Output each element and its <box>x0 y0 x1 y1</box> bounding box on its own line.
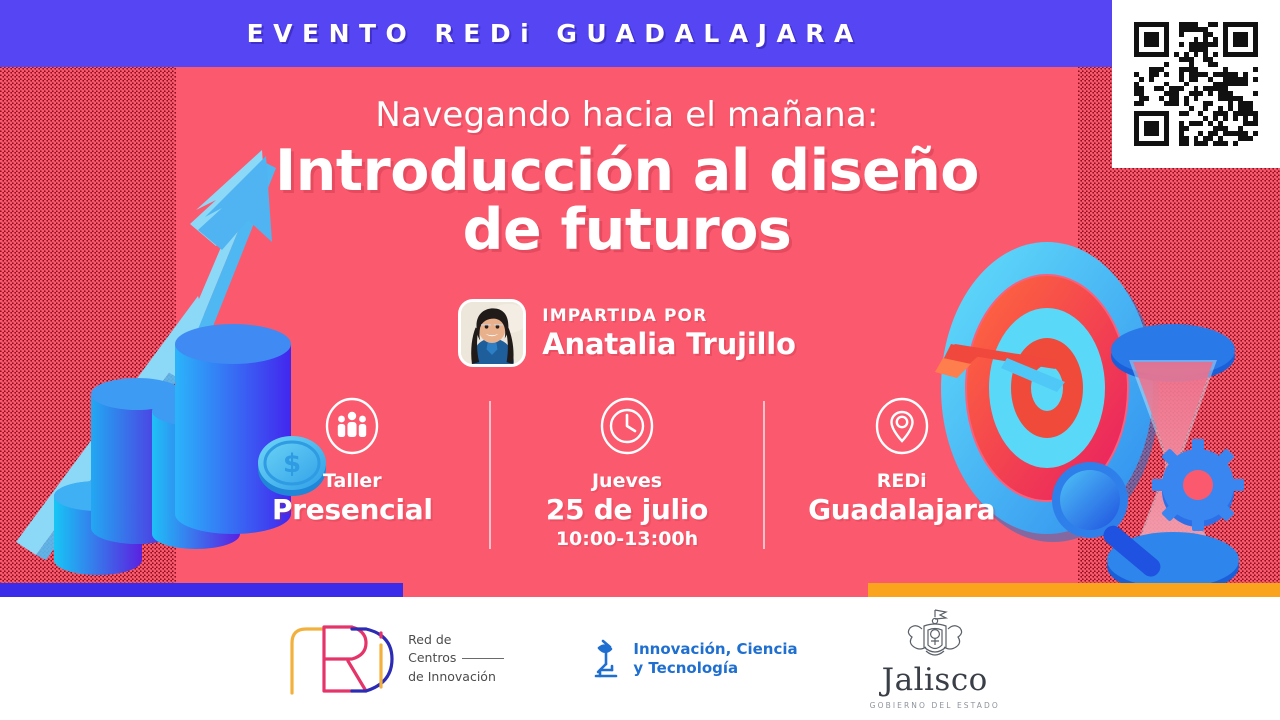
redi-tagline-line-1: Red de <box>408 631 504 649</box>
info-date-time: 10:00-13:00h <box>556 528 698 550</box>
poster-content: Navegando hacia el mañana: Introducción … <box>176 67 1078 597</box>
poster-artboard: $ <box>0 0 1280 597</box>
ict-text-line-1: Innovación, Ciencia <box>633 640 797 659</box>
speaker-text: IMPARTIDA POR Anatalia Trujillo <box>542 306 795 361</box>
info-modality-big: Presencial <box>272 494 433 525</box>
qr-code-card[interactable] <box>1112 0 1280 168</box>
accent-bar-blue <box>0 583 403 597</box>
redi-tagline-line-2: Centros <box>408 650 456 665</box>
ict-text-line-2: y Tecnología <box>633 659 797 678</box>
people-group-icon <box>323 397 381 455</box>
info-item-location: REDi Guadalajara <box>765 397 1038 525</box>
jalisco-word: Jalisco <box>870 665 1000 696</box>
event-poster: $ <box>0 0 1280 720</box>
info-item-modality: Taller Presencial <box>216 397 489 525</box>
header-bar-inner: EVENTO REDi GUADALAJARA <box>0 0 1100 67</box>
avatar <box>458 299 526 367</box>
jalisco-gobierno-logo: Jalisco GOBIERNO DEL ESTADO <box>870 607 1000 710</box>
jalisco-subtitle: GOBIERNO DEL ESTADO <box>870 701 1000 710</box>
clock-icon <box>598 397 656 455</box>
redi-tagline-rule <box>462 658 504 659</box>
header-bar: EVENTO REDi GUADALAJARA <box>0 0 1280 67</box>
page-title: Introducción al diseño de futuros <box>176 142 1078 259</box>
info-location-small: REDi <box>877 471 927 493</box>
footer-logos: Red de Centros de Innovación Innovaci <box>0 597 1280 720</box>
title-eyebrow: Navegando hacia el mañana: <box>176 96 1078 135</box>
redi-logo: Red de Centros de Innovación <box>280 621 504 697</box>
title-line-2: de futuros <box>176 201 1078 260</box>
title-line-1: Introducción al diseño <box>176 142 1078 201</box>
event-kicker: EVENTO REDi GUADALAJARA <box>237 19 863 48</box>
speaker-name: Anatalia Trujillo <box>542 327 795 361</box>
ict-text: Innovación, Ciencia y Tecnología <box>633 640 797 678</box>
speaker-block: IMPARTIDA POR Anatalia Trujillo <box>176 299 1078 367</box>
location-pin-icon <box>873 397 931 455</box>
jalisco-text: Jalisco GOBIERNO DEL ESTADO <box>870 665 1000 710</box>
accent-bar-orange <box>868 583 1280 597</box>
redi-tagline-line-3: de Innovación <box>408 668 504 686</box>
info-date-big: 25 de julio <box>546 494 708 525</box>
innovacion-ciencia-tecnologia-logo: Innovación, Ciencia y Tecnología <box>590 636 797 682</box>
speaker-label: IMPARTIDA POR <box>542 306 795 326</box>
redi-tagline: Red de Centros de Innovación <box>408 631 504 685</box>
info-modality-small: Taller <box>323 471 382 493</box>
title-block: Navegando hacia el mañana: Introducción … <box>176 96 1078 260</box>
info-location-big: Guadalajara <box>808 494 995 525</box>
qr-code-icon[interactable] <box>1134 22 1258 146</box>
info-date-small: Jueves <box>592 471 662 493</box>
info-row: Taller Presencial Jueves 25 de julio <box>216 397 1038 550</box>
info-item-date: Jueves 25 de julio 10:00-13:00h <box>491 397 764 550</box>
